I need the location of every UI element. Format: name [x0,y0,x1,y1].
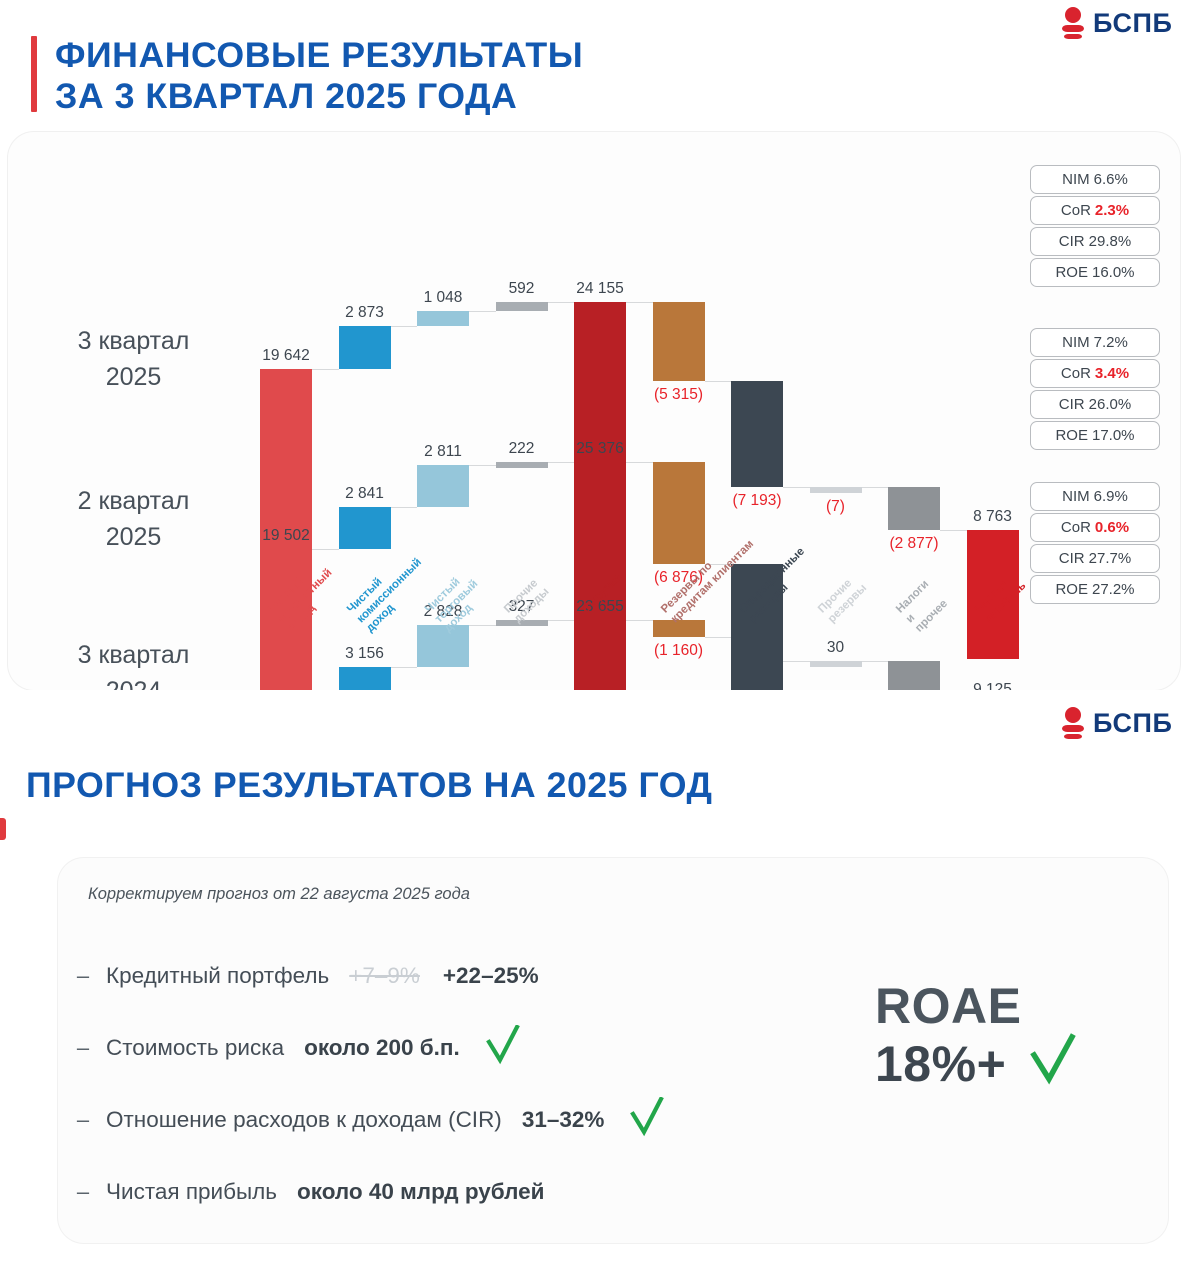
waterfall-connector [548,462,575,463]
forecast-item-text: Стоимость риска [106,1035,284,1061]
axis-category-label: Выручка [580,571,625,616]
kpi-name: ROE [1055,264,1088,281]
forecast-item: –Отношение расходов к доходам (CIR)31–32… [74,1084,834,1156]
forecast-item: –Чистая прибыльоколо 40 млрд рублей [74,1156,834,1228]
bspb-logo-text-2: БСПБ [1093,708,1172,739]
waterfall-value-label: 2 841 [323,485,407,503]
bspb-logo-mark-icon [1062,6,1084,40]
kpi-chip-nim: NIM6.6% [1030,165,1160,194]
waterfall-bar [810,487,862,493]
forecast-item-text: Отношение расходов к доходам (CIR) [106,1107,502,1133]
slide2-title: ПРОГНОЗ РЕЗУЛЬТАТОВ НА 2025 ГОД [26,766,713,807]
waterfall-chart: 3 квартал2025 2 квартал2025 3 квартал202… [8,132,1180,690]
waterfall-chart-card: 3 квартал2025 2 квартал2025 3 квартал202… [8,132,1180,690]
waterfall-bar [339,326,391,369]
waterfall-bar [496,462,548,468]
kpi-chip-nim: NIM7.2% [1030,328,1160,357]
waterfall-connector [312,369,339,370]
forecast-item-value: +22–25% [443,963,539,989]
waterfall-bar [339,507,391,549]
kpi-value: 7.2% [1094,334,1128,351]
forecast-list: –Кредитный портфель+7–9%+22–25%–Стоимост… [74,940,834,1228]
waterfall-bar [731,381,783,487]
slide-forecast: БСПБ ПРОГНОЗ РЕЗУЛЬТАТОВ НА 2025 ГОД Кор… [0,690,1188,1280]
forecast-item-dash: – [74,1107,92,1133]
kpi-chip-roe: ROE27.2% [1030,575,1160,604]
waterfall-bar [417,311,469,327]
kpi-group-q3-2025: NIM6.6%CoR2.3%CIR29.8%ROE16.0% [1030,165,1160,287]
waterfall-value-label: 592 [480,280,564,298]
waterfall-value-label: 2 873 [323,304,407,322]
axis-category-label: Чистыйпроцентныйдоход [266,557,345,636]
kpi-value: 16.0% [1092,264,1135,281]
waterfall-connector [626,302,653,303]
kpi-value: 6.9% [1094,488,1128,505]
kpi-value: 0.6% [1095,519,1129,536]
waterfall-connector [548,302,575,303]
waterfall-value-label: 24 155 [558,280,642,298]
kpi-group-q2-2025: NIM7.2%CoR3.4%CIR26.0%ROE17.0% [1030,328,1160,450]
roae-check-icon [1030,1033,1076,1098]
forecast-note: Корректируем прогноз от 22 августа 2025 … [88,885,470,904]
roae-value: 18%+ [875,1036,1006,1094]
waterfall-connector [391,507,418,508]
waterfall-value-label: (7) [794,498,878,516]
kpi-chip-cor: CoR2.3% [1030,196,1160,225]
edge-accent-marker [0,818,6,840]
waterfall-value-label: 19 642 [244,347,328,365]
forecast-item: –Кредитный портфель+7–9%+22–25% [74,940,834,1012]
waterfall-connector [705,381,732,382]
axis-category-label: Чистыйкомиссионныйдоход [345,546,434,635]
slide1-title: ФИНАНСОВЫЕ РЕЗУЛЬТАТЫ ЗА 3 КВАРТАЛ 2025 … [31,36,573,112]
forecast-item-dash: – [74,963,92,989]
kpi-name: CIR [1059,550,1085,567]
forecast-item-dash: – [74,1179,92,1205]
waterfall-value-label: 8 763 [951,508,1035,526]
bspb-logo-mark-icon-2 [1062,706,1084,740]
waterfall-value-label: (2 877) [872,535,956,553]
waterfall-connector [469,465,496,466]
waterfall-value-label: (7 193) [715,492,799,510]
kpi-name: CoR [1061,365,1091,382]
kpi-name: CoR [1061,519,1091,536]
axis-category-label: Чистаяприбыль [973,570,1029,626]
waterfall-value-label: 2 811 [401,443,485,461]
kpi-name: NIM [1062,171,1090,188]
kpi-chip-roe: ROE17.0% [1030,421,1160,450]
kpi-name: NIM [1062,334,1090,351]
forecast-item-value: около 40 млрд рублей [297,1179,544,1205]
roae-block: ROAE 18%+ [875,980,1115,1097]
slide1-title-line1: ФИНАНСОВЫЕ РЕЗУЛЬТАТЫ [55,36,583,77]
title-accent-bar [31,36,37,112]
forecast-check-icon [630,1097,664,1143]
kpi-value: 26.0% [1089,396,1132,413]
waterfall-connector [626,462,653,463]
waterfall-value-label: 25 376 [558,440,642,458]
kpi-name: ROE [1055,427,1088,444]
kpi-chip-cir: CIR27.7% [1030,544,1160,573]
waterfall-value-label: 1 048 [401,289,485,307]
kpi-chip-cir: CIR26.0% [1030,390,1160,419]
row-label-q2-2025: 2 квартал2025 [26,484,241,555]
kpi-value: 29.8% [1089,233,1132,250]
kpi-name: CIR [1059,396,1085,413]
waterfall-connector [391,326,418,327]
kpi-value: 27.7% [1089,550,1132,567]
kpi-value: 6.6% [1094,171,1128,188]
waterfall-value-label: 19 502 [244,527,328,545]
bspb-logo-icon: БСПБ [1062,6,1172,40]
forecast-item-old-value: +7–9% [349,963,420,989]
axis-category-label: Операционныерасходы [737,545,818,626]
kpi-value: 27.2% [1092,581,1135,598]
waterfall-connector [862,487,889,488]
forecast-item-dash: – [74,1035,92,1061]
forecast-item-value: 31–32% [522,1107,605,1133]
forecast-item-value: около 200 б.п. [304,1035,460,1061]
kpi-value: 17.0% [1092,427,1135,444]
waterfall-bar [653,462,705,564]
bspb-logo-icon-2: БСПБ [1062,706,1172,740]
kpi-name: CoR [1061,202,1091,219]
axis-category-label: Прочиедоходы [502,576,552,626]
axis-category-label: Налогиипрочее [894,578,952,636]
waterfall-bar [496,302,548,311]
waterfall-connector [469,311,496,312]
kpi-chip-cor: CoR3.4% [1030,359,1160,388]
kpi-group-q3-2024: NIM6.9%CoR0.6%CIR27.7%ROE27.2% [1030,482,1160,604]
waterfall-bar [653,302,705,381]
kpi-chip-roe: ROE16.0% [1030,258,1160,287]
roae-label: ROAE [875,980,1115,1033]
kpi-name: CIR [1059,233,1085,250]
kpi-name: NIM [1062,488,1090,505]
kpi-name: ROE [1055,581,1088,598]
forecast-check-icon [486,1025,520,1071]
forecast-item-text: Чистая прибыль [106,1179,277,1205]
forecast-item: –Стоимость рискаоколо 200 б.п. [74,1012,834,1084]
presentation-page: БСПБ ФИНАНСОВЫЕ РЕЗУЛЬТАТЫ ЗА 3 КВАРТАЛ … [0,0,1188,1280]
roae-value-row: 18%+ [875,1033,1115,1098]
row-label-q3-2025: 3 квартал2025 [26,324,241,395]
kpi-chip-cor: CoR0.6% [1030,513,1160,542]
waterfall-value-label: 222 [480,440,564,458]
axis-category-label: Прочиерезервы [816,572,870,626]
slide-financial-results: БСПБ ФИНАНСОВЫЕ РЕЗУЛЬТАТЫ ЗА 3 КВАРТАЛ … [0,0,1188,690]
waterfall-connector [312,549,339,550]
kpi-chip-nim: NIM6.9% [1030,482,1160,511]
waterfall-bar [888,487,940,530]
waterfall-bar [417,465,469,507]
slide1-title-line2: ЗА 3 КВАРТАЛ 2025 ГОДА [55,77,583,118]
axis-category-label: Чистыйторговыйдоход [423,568,491,636]
waterfall-axis-labels: ЧистыйпроцентныйдоходЧистыйкомиссионныйд… [8,597,1180,692]
waterfall-connector [940,530,967,531]
kpi-value: 2.3% [1095,202,1129,219]
bspb-logo-text: БСПБ [1093,8,1172,39]
forecast-item-text: Кредитный портфель [106,963,329,989]
waterfall-value-label: (5 315) [637,386,721,404]
kpi-chip-cir: CIR29.8% [1030,227,1160,256]
waterfall-connector [783,487,810,488]
kpi-value: 3.4% [1095,365,1129,382]
